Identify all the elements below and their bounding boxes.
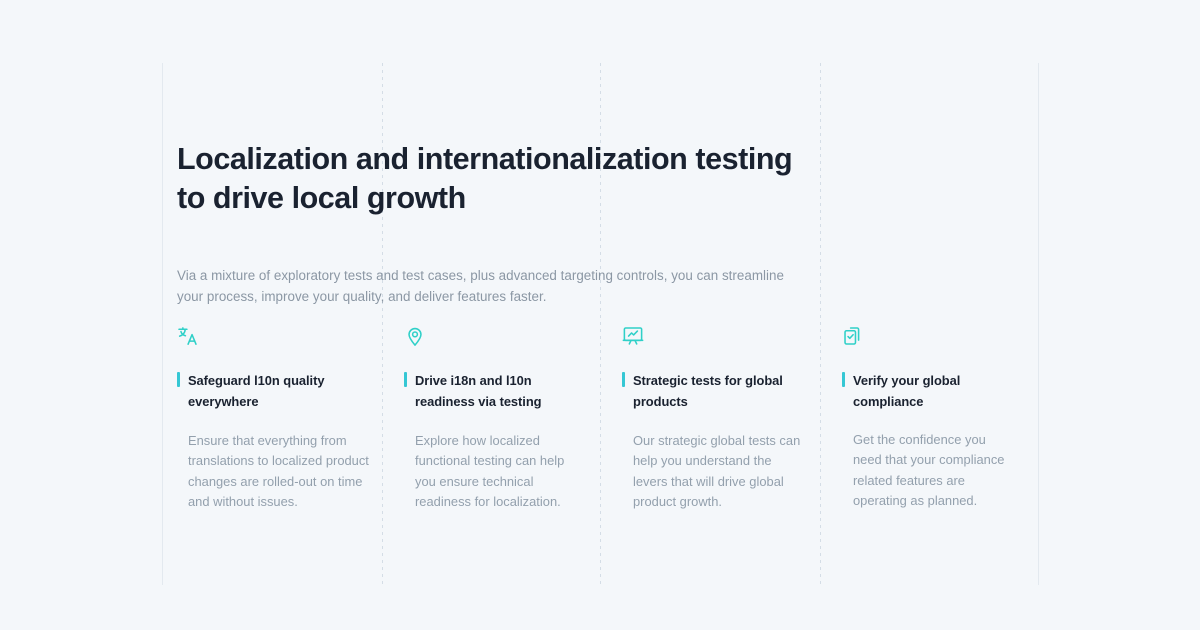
feature-body-1: Ensure that everything from translations…: [177, 431, 369, 512]
feature-title-3: Strategic tests for global products: [633, 371, 807, 412]
map-pin-icon: [404, 325, 426, 347]
feature-card-4: Verify your global compliance Get the co…: [833, 325, 1038, 512]
grid-rule-left: [162, 63, 163, 585]
feature-title-row-1: Safeguard l10n quality everywhere: [177, 371, 369, 412]
accent-bar: [177, 372, 180, 387]
translate-icon: [177, 325, 199, 347]
feature-card-3: Strategic tests for global products Our …: [613, 325, 833, 512]
feature-card-1: Safeguard l10n quality everywhere Ensure…: [177, 325, 395, 512]
content-area: Localization and internationalization te…: [177, 63, 1038, 585]
grid-rule-right: [1038, 63, 1039, 585]
feature-body-4: Get the confidence you need that your co…: [842, 430, 1012, 511]
feature-title-row-2: Drive i18n and l10n readiness via testin…: [404, 371, 587, 412]
presentation-chart-icon: [622, 325, 644, 347]
feature-title-4: Verify your global compliance: [853, 371, 1012, 412]
feature-title-1: Safeguard l10n quality everywhere: [188, 371, 369, 412]
page-root: Localization and internationalization te…: [0, 0, 1200, 630]
page-subtitle: Via a mixture of exploratory tests and t…: [177, 265, 809, 307]
feature-title-row-3: Strategic tests for global products: [622, 371, 807, 412]
accent-bar: [404, 372, 407, 387]
feature-body-3: Our strategic global tests can help you …: [622, 431, 807, 512]
page-title: Localization and internationalization te…: [177, 140, 817, 218]
feature-body-2: Explore how localized functional testing…: [404, 431, 587, 512]
feature-title-2: Drive i18n and l10n readiness via testin…: [415, 371, 587, 412]
feature-card-2: Drive i18n and l10n readiness via testin…: [395, 325, 613, 512]
accent-bar: [622, 372, 625, 387]
feature-columns: Safeguard l10n quality everywhere Ensure…: [177, 325, 1038, 512]
accent-bar: [842, 372, 845, 387]
clipboard-check-icon: [842, 325, 864, 347]
feature-title-row-4: Verify your global compliance: [842, 371, 1012, 412]
